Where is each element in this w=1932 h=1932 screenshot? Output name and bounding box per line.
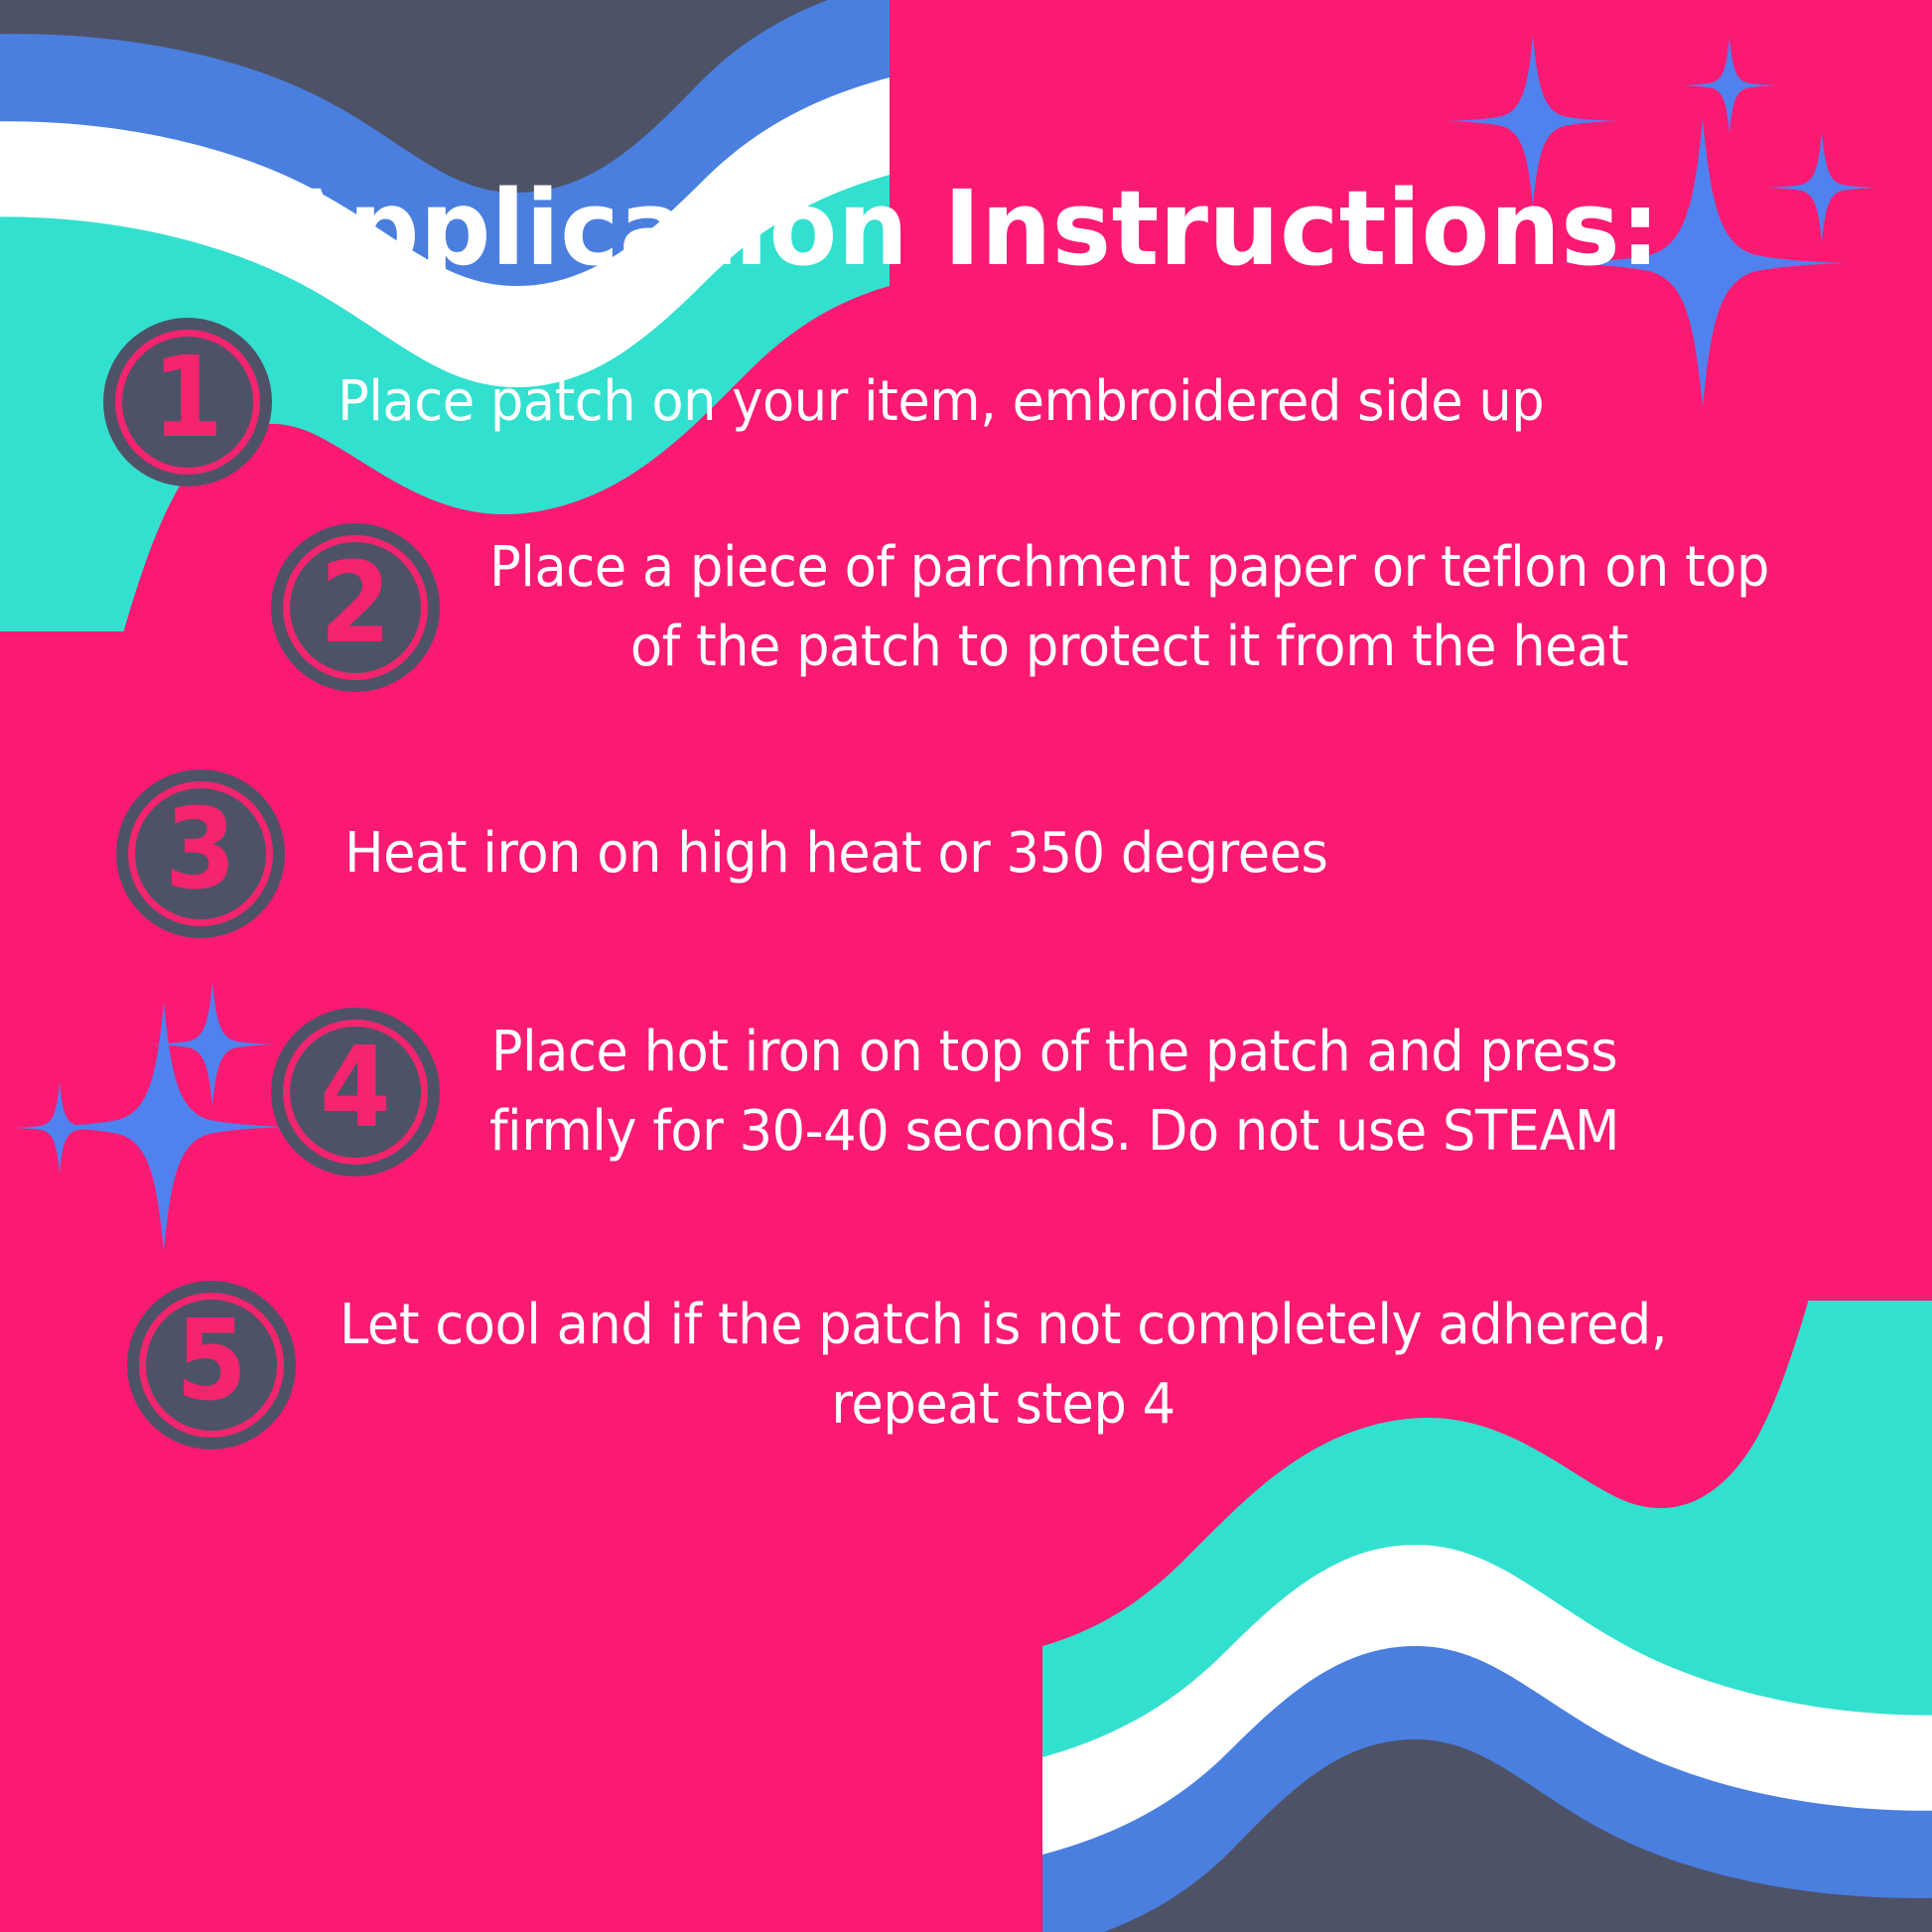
step-text-5: Let cool and if the patch is not complet… xyxy=(340,1286,1667,1444)
step-text-1: Place patch on your item, embroidered si… xyxy=(338,362,1544,442)
step-text-line: of the patch to protect it from the heat xyxy=(489,608,1769,687)
instruction-poster: Application Instructions: 1 Place patch … xyxy=(0,0,1932,1932)
step-item-4: 4 Place hot iron on top of the patch and… xyxy=(271,1008,1692,1176)
step-badge-5: 5 xyxy=(127,1281,296,1449)
step-text-line: Place patch on your item, embroidered si… xyxy=(338,362,1544,442)
step-number-4: 4 xyxy=(320,1033,391,1144)
step-item-5: 5 Let cool and if the patch is not compl… xyxy=(127,1281,1751,1449)
step-text-line: firmly for 30-40 seconds. Do not use STE… xyxy=(489,1092,1619,1172)
step-number-1: 1 xyxy=(152,343,223,454)
step-badge-1: 1 xyxy=(103,318,272,486)
step-text-4: Place hot iron on top of the patch and p… xyxy=(489,1013,1619,1171)
page-title-container: Application Instructions: xyxy=(0,177,1932,280)
page-title: Application Instructions: xyxy=(271,177,1660,280)
step-number-2: 2 xyxy=(320,548,391,659)
step-text-line: Let cool and if the patch is not complet… xyxy=(340,1286,1667,1365)
step-text-3: Heat iron on high heat or 350 degrees xyxy=(345,814,1327,894)
step-badge-3: 3 xyxy=(116,769,285,938)
step-text-line: repeat step 4 xyxy=(340,1365,1667,1445)
steps-list: 1 Place patch on your item, embroidered … xyxy=(0,0,1932,1932)
step-text-line: Heat iron on high heat or 350 degrees xyxy=(345,814,1327,894)
step-text-2: Place a piece of parchment paper or tefl… xyxy=(489,528,1769,686)
step-item-3: 3 Heat iron on high heat or 350 degrees xyxy=(116,769,1391,938)
step-badge-4: 4 xyxy=(271,1008,440,1176)
step-number-3: 3 xyxy=(165,794,236,905)
step-text-line: Place hot iron on top of the patch and p… xyxy=(489,1013,1619,1092)
step-badge-2: 2 xyxy=(271,523,440,692)
step-number-5: 5 xyxy=(176,1306,247,1417)
step-item-1: 1 Place patch on your item, embroidered … xyxy=(103,318,1621,486)
step-text-line: Place a piece of parchment paper or tefl… xyxy=(489,528,1769,608)
step-item-2: 2 Place a piece of parchment paper or te… xyxy=(271,523,1851,692)
